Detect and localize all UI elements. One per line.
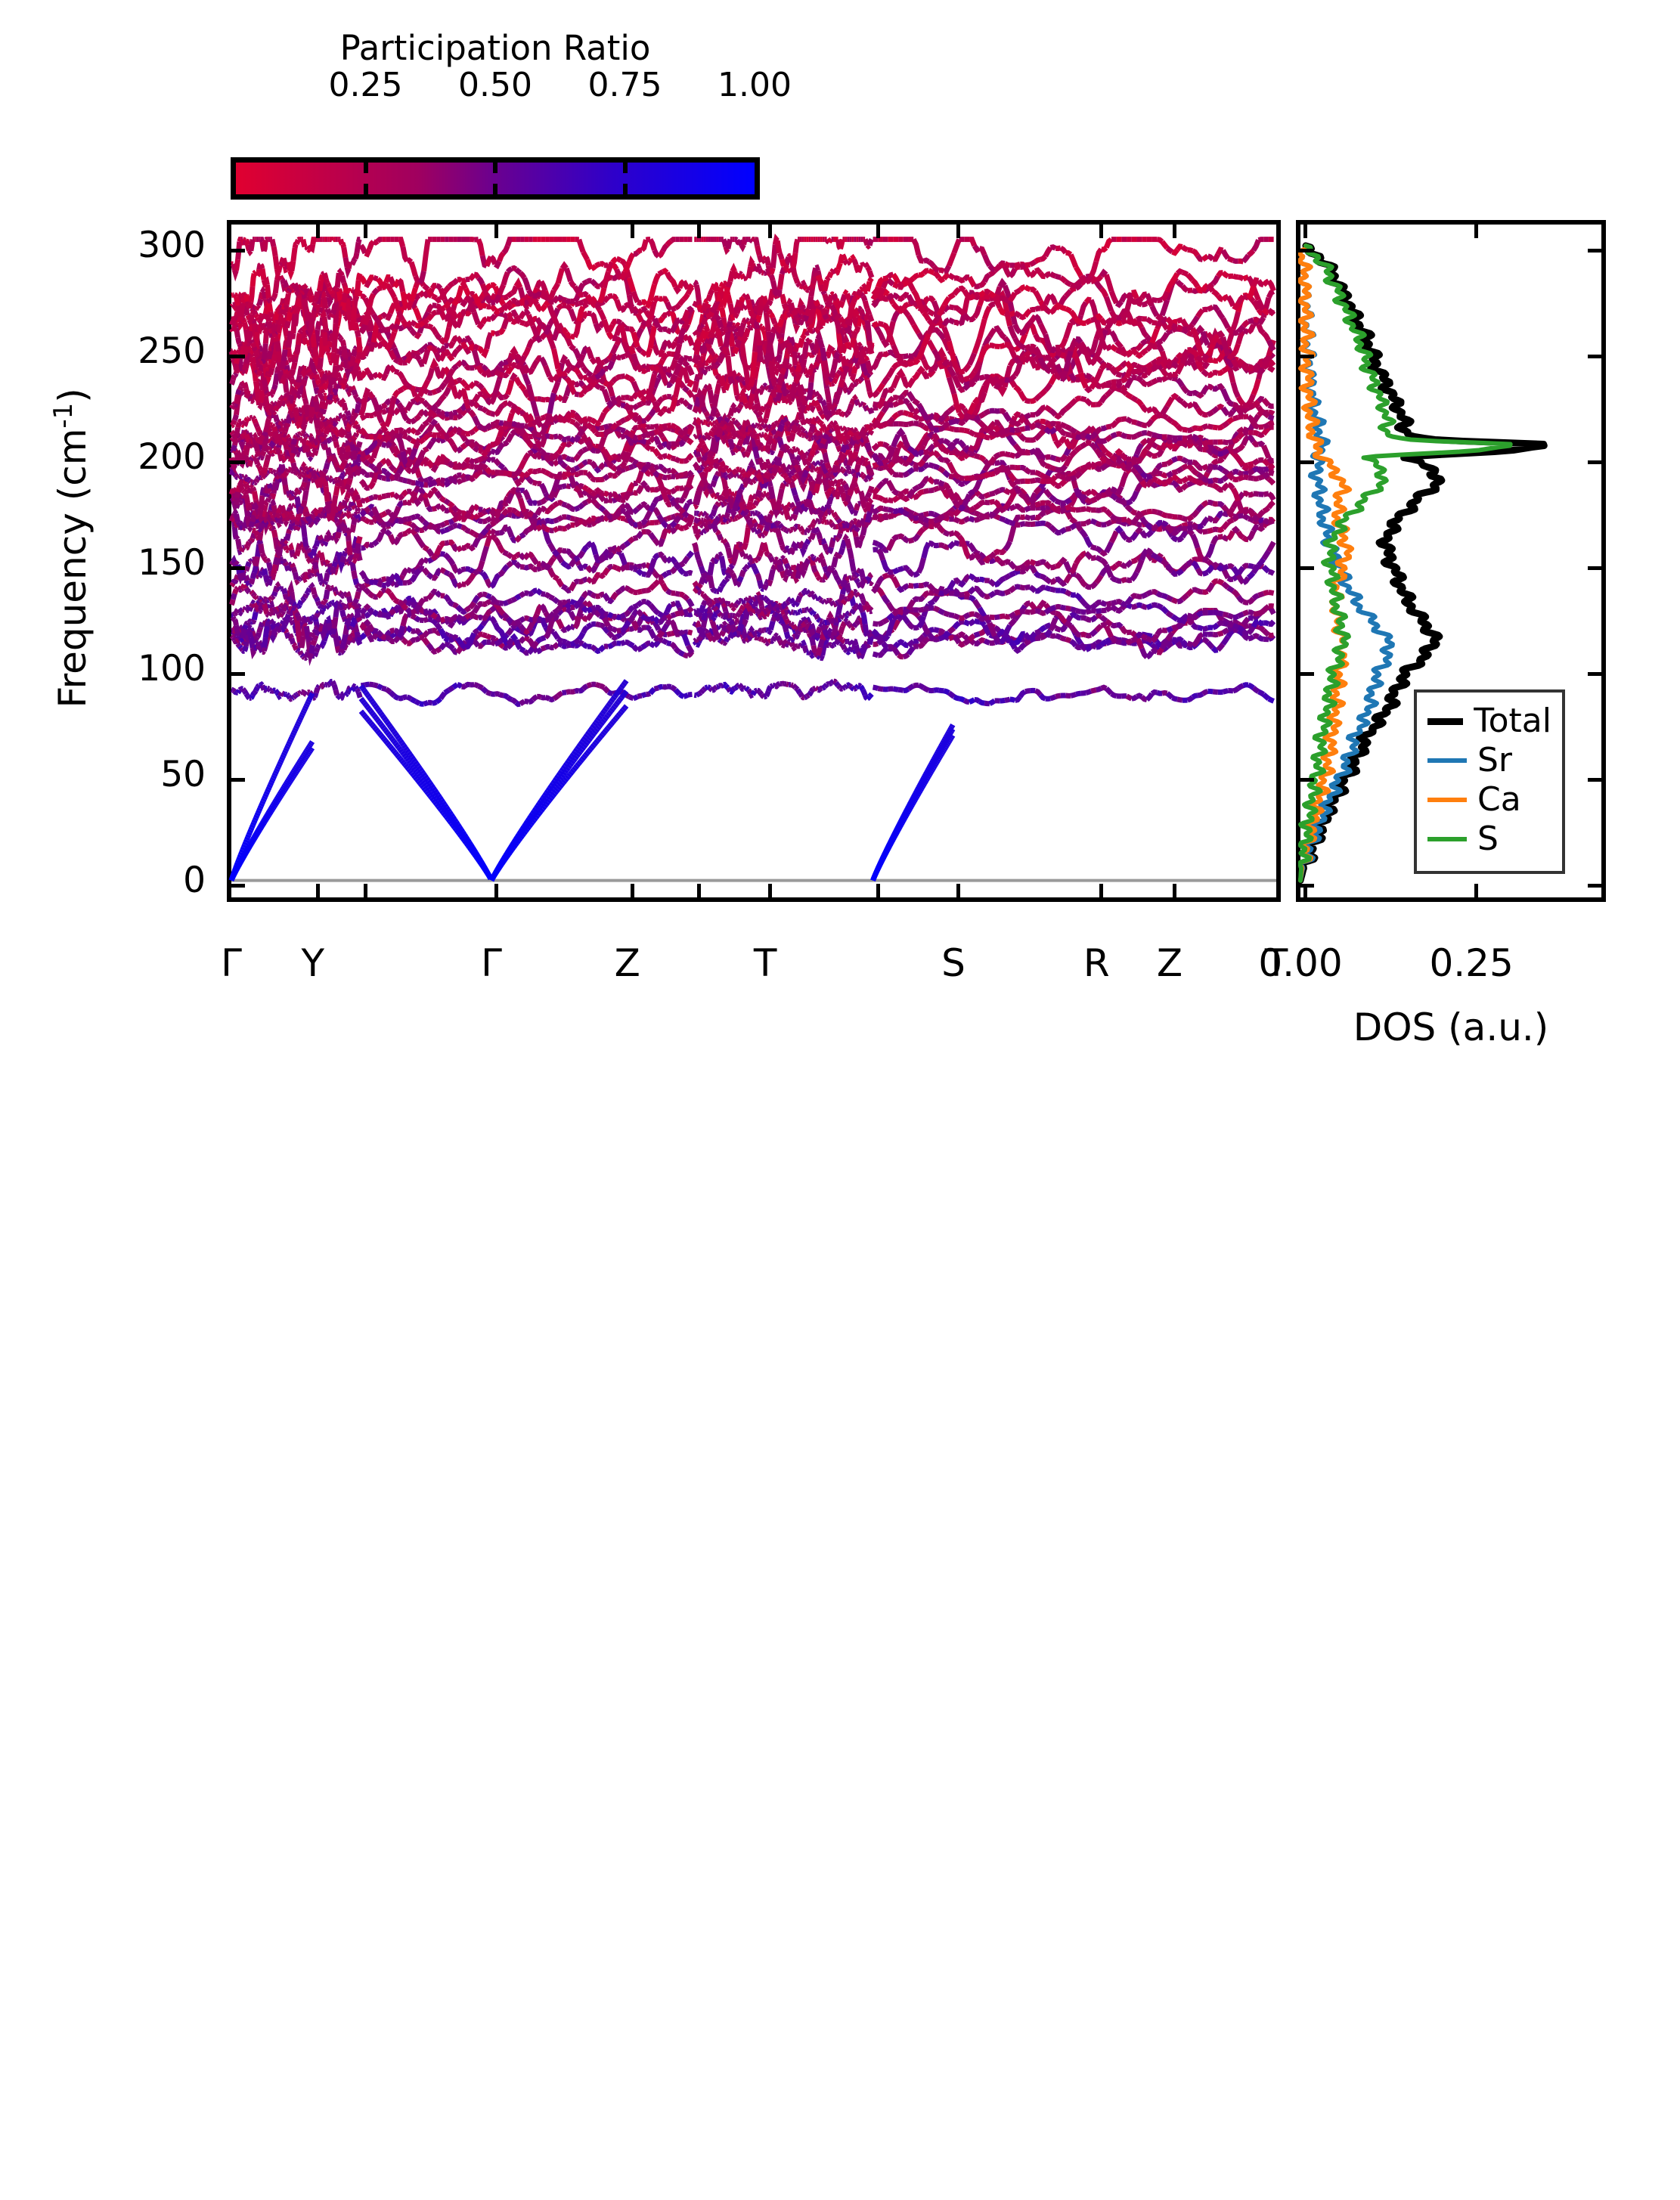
phonon-branch: [334, 480, 336, 481]
phonon-branch: [312, 618, 313, 618]
phonon-branch: [461, 547, 466, 548]
phonon-branch: [457, 606, 462, 610]
phonon-branch: [233, 593, 234, 600]
phonon-branch: [309, 417, 311, 420]
phonon-branch: [352, 623, 354, 627]
phonon-branch: [625, 587, 630, 590]
phonon-branch: [445, 522, 449, 524]
phonon-branch: [667, 476, 671, 477]
phonon-branch: [355, 395, 357, 398]
phonon-branch: [495, 333, 500, 334]
phonon-branch: [625, 406, 630, 407]
phonon-branch: [340, 240, 342, 244]
phonon-branch: [688, 501, 693, 504]
phonon-branch: [344, 417, 346, 420]
phonon-branch: [386, 436, 391, 439]
phonon-branch: [323, 602, 324, 605]
phonon-branch: [575, 349, 579, 358]
phonon-branch: [482, 573, 487, 579]
phonon-branch: [504, 614, 508, 618]
phonon-branch: [279, 401, 281, 405]
phonon-branch: [553, 551, 558, 556]
phonon-branch: [659, 581, 663, 584]
phonon-branch: [321, 645, 323, 647]
phonon-branch: [349, 416, 350, 420]
phonon-branch: [541, 500, 546, 503]
phonon-branch: [436, 570, 441, 576]
phonon-branch: [365, 684, 370, 685]
phonon-branch: [271, 612, 272, 612]
colorbar-tick-label-1: 0.50: [458, 67, 532, 104]
phonon-branch: [374, 541, 378, 544]
phonon-branch: [655, 499, 659, 504]
phonon-branch: [583, 627, 587, 633]
phonon-branch: [277, 626, 278, 627]
phonon-branch: [499, 630, 504, 637]
phonon-branch: [563, 646, 567, 646]
phonon-branch: [288, 312, 290, 321]
phonon-branch: [563, 373, 567, 375]
phonon-branch: [470, 431, 475, 433]
phonon-branch: [340, 476, 342, 479]
phonon-branch: [339, 607, 340, 609]
phonon-branch: [316, 648, 318, 652]
phonon-branch: [516, 356, 521, 361]
phonon-branch: [269, 439, 271, 443]
phonon-branch: [274, 293, 275, 298]
phonon-branch: [386, 495, 391, 496]
phonon-branch: [528, 700, 533, 702]
phonon-branch: [617, 634, 621, 637]
phonon-branch: [558, 397, 563, 400]
phonon-branch: [326, 429, 327, 434]
phonon-branch: [365, 589, 370, 593]
phonon-branch: [295, 312, 296, 326]
phonon-branch: [420, 600, 424, 606]
phonon-branch: [411, 610, 416, 612]
phonon-branch: [474, 350, 479, 366]
phonon-branch: [264, 599, 265, 600]
phonon-branch: [629, 434, 634, 437]
phonon-branch: [675, 488, 680, 489]
phonon-branch: [285, 562, 287, 565]
phonon-branch: [329, 623, 330, 630]
phonon-branch: [407, 615, 411, 616]
phonon-branch: [374, 582, 378, 583]
phonon-branch: [319, 358, 321, 369]
phonon-branch: [284, 605, 285, 608]
phonon-branch: [264, 380, 265, 388]
phonon-branch: [571, 469, 575, 471]
phonon-branch: [591, 566, 596, 572]
phonon-branch: [533, 620, 538, 621]
phonon-branch: [300, 433, 302, 434]
phonon-branch: [449, 417, 454, 418]
phonon-branch: [659, 476, 663, 477]
phonon-branch: [499, 423, 504, 423]
phonon-branch: [337, 532, 339, 538]
phonon-branch: [231, 583, 233, 586]
phonon-branch: [411, 605, 416, 606]
phonon-branch: [507, 629, 512, 634]
phonon-branch: [659, 398, 663, 403]
phonon-branch: [344, 552, 346, 556]
phonon-branch: [453, 350, 457, 356]
phonon-branch: [634, 461, 638, 463]
phonon-branch: [550, 569, 554, 577]
phonon-branch: [398, 362, 403, 363]
phonon-branch: [449, 432, 454, 435]
phonon-branch: [566, 467, 571, 471]
phonon-branch: [680, 594, 684, 596]
phonon-branch: [240, 612, 241, 613]
phonon-branch: [240, 590, 241, 590]
phonon-branch: [333, 566, 334, 573]
phonon-branch: [424, 390, 429, 392]
phonon-branch: [634, 592, 638, 593]
phonon-branch: [313, 587, 315, 594]
phonon-branch: [296, 451, 298, 454]
phonon-branch: [302, 600, 303, 601]
phonon-branch: [407, 518, 411, 519]
phonon-branch: [390, 610, 395, 613]
phonon-branch: [474, 606, 479, 612]
phonon-branch: [254, 364, 256, 370]
phonon-branch: [449, 687, 454, 690]
phonon-branch: [234, 373, 236, 376]
phonon-branch: [612, 475, 617, 476]
phonon-branch: [470, 612, 475, 615]
phonon-branch: [357, 544, 358, 553]
phonon-branch: [683, 611, 688, 612]
phonon-branch: [453, 466, 457, 467]
phonon-branch: [324, 297, 326, 308]
phonon-branch: [495, 642, 500, 644]
phonon-branch: [251, 287, 253, 302]
phonon-branch: [487, 425, 491, 429]
phonon-branch: [449, 527, 454, 529]
phonon-branch: [334, 458, 336, 463]
phonon-branch: [254, 566, 256, 573]
phonon-branch: [596, 596, 600, 596]
phonon-branch: [625, 542, 630, 545]
phonon-branch: [327, 284, 329, 287]
phonon-branch: [675, 526, 680, 528]
phonon-branch: [269, 412, 271, 413]
phonon-branch: [507, 514, 512, 516]
phonon-branch: [365, 613, 370, 616]
phonon-branch: [251, 538, 253, 541]
phonon-branch: [386, 522, 391, 525]
phonon-branch: [312, 437, 313, 441]
phonon-branch: [436, 435, 441, 435]
phonon-branch: [470, 444, 475, 448]
phonon-branch: [347, 620, 349, 624]
phonon-branch: [343, 244, 344, 247]
phonon-branch: [663, 456, 668, 457]
phonon-branch: [441, 629, 445, 638]
phonon-branch: [275, 690, 277, 693]
phonon-branch: [563, 457, 567, 457]
phonon-branch: [512, 405, 516, 408]
phonon-branch: [528, 442, 533, 446]
phonon-branch: [411, 401, 416, 402]
phonon-branch: [461, 445, 466, 448]
phonon-branch: [604, 646, 609, 647]
phonon-branch: [365, 415, 370, 416]
phonon-branch: [329, 588, 330, 589]
phonon-branch: [319, 413, 321, 417]
phonon-branch: [415, 702, 420, 704]
phonon-branch: [495, 410, 500, 414]
phonon-branch: [233, 445, 234, 451]
phonon-branch: [671, 489, 676, 492]
phonon-branch: [329, 287, 330, 291]
phonon-branch: [339, 292, 340, 301]
phonon-branch: [507, 554, 512, 557]
phonon-branch: [333, 681, 334, 684]
phonon-branch: [411, 467, 416, 472]
phonon-branch: [349, 541, 350, 556]
phonon-branch: [346, 498, 347, 500]
phonon-branch: [243, 547, 244, 548]
phonon-branch: [528, 566, 533, 568]
phonon-branch: [256, 597, 257, 599]
phonon-branch: [382, 445, 386, 446]
phonon-branch: [262, 360, 264, 362]
phonon-branch: [646, 446, 650, 449]
phonon-branch: [303, 693, 305, 693]
phonon-branch: [303, 524, 305, 537]
phonon-branch: [390, 466, 395, 470]
phonon-branch: [234, 295, 236, 297]
phonon-branch: [415, 528, 420, 530]
phonon-branch: [334, 429, 336, 431]
phonon-branch: [390, 631, 395, 632]
phonon-branch: [474, 506, 479, 510]
phonon-branch: [272, 596, 274, 597]
phonon-branch: [241, 442, 243, 444]
phonon-branch: [246, 494, 247, 503]
phonon-branch: [579, 633, 584, 640]
phonon-branch: [233, 420, 234, 424]
phonon-branch: [316, 375, 318, 380]
phonon-branch: [428, 326, 432, 327]
phonon-branch: [236, 428, 237, 437]
phonon-branch: [365, 508, 370, 511]
phonon-branch: [441, 457, 445, 460]
phonon-branch: [621, 435, 625, 437]
phonon-branch: [470, 466, 475, 467]
phonon-branch: [336, 431, 337, 433]
phonon-branch: [305, 434, 306, 436]
phonon-branch: [553, 610, 558, 613]
phonon-branch: [457, 409, 462, 412]
phonon-branch: [369, 458, 374, 460]
phonon-branch: [248, 696, 250, 699]
phonon-branch: [292, 515, 293, 519]
phonon-branch: [487, 469, 491, 473]
phonon-branch: [336, 637, 337, 646]
phonon-branch: [284, 589, 285, 594]
phonon-branch: [284, 562, 285, 563]
phonon-branch: [329, 353, 330, 360]
phonon-branch: [343, 610, 344, 617]
phonon-branch: [296, 306, 298, 313]
phonon-branch: [243, 689, 244, 691]
phonon-branch: [395, 446, 399, 454]
phonon-branch: [479, 394, 483, 395]
phonon-branch: [246, 389, 247, 394]
phonon-branch: [566, 626, 571, 630]
phonon-branch: [347, 427, 349, 431]
phonon-branch: [504, 395, 508, 398]
phonon-branch: [398, 373, 403, 379]
phonon-branch: [680, 569, 684, 573]
phonon-branch: [428, 491, 432, 497]
phonon-branch: [675, 593, 680, 594]
phonon-branch: [254, 482, 256, 482]
phonon-branch: [520, 460, 525, 469]
phonon-branch: [256, 531, 257, 536]
phonon-branch: [269, 351, 271, 359]
phonon-branch: [420, 637, 424, 639]
phonon-branch: [575, 417, 579, 419]
phonon-branch: [339, 479, 340, 480]
phonon-branch: [650, 630, 655, 638]
phonon-branch: [279, 627, 281, 629]
phonon-branch: [566, 604, 571, 607]
phonon-branch: [303, 371, 305, 373]
phonon-branch: [512, 562, 516, 563]
phonon-branch: [642, 352, 646, 355]
phonon-branch: [240, 522, 241, 525]
phonon-branch: [612, 457, 617, 458]
phonon-branch: [683, 460, 688, 461]
phonon-branch: [339, 469, 340, 471]
phonon-branch: [347, 690, 349, 694]
phonon-branch: [287, 514, 288, 515]
phonon-branch: [575, 383, 579, 385]
phonon-branch: [256, 507, 257, 509]
phonon-branch: [541, 426, 546, 426]
phonon-branch: [358, 500, 360, 507]
phonon-branch: [609, 626, 613, 629]
phonon-branch: [300, 544, 302, 545]
phonon-branch: [240, 437, 241, 438]
phonon-branch: [231, 321, 233, 324]
phonon-branch: [292, 602, 293, 603]
phonon-branch: [347, 593, 349, 596]
phonon-branch: [295, 520, 296, 522]
phonon-branch: [265, 426, 267, 432]
phonon-branch: [277, 341, 278, 351]
phonon-branch: [347, 446, 349, 452]
phonon-branch: [655, 345, 659, 355]
phonon-branch: [604, 450, 609, 457]
phonon-branch: [617, 428, 621, 429]
phonon-branch: [663, 426, 668, 426]
phonon-branch: [537, 526, 541, 529]
phonon-branch: [655, 450, 659, 456]
band-structure-plot[interactable]: [227, 220, 1281, 902]
phonon-branch: [327, 441, 329, 442]
phonon-branch: [566, 415, 571, 419]
phonon-branch: [303, 389, 305, 398]
phonon-branch: [587, 348, 592, 359]
phonon-branch: [354, 436, 355, 438]
phonon-branch: [671, 644, 676, 649]
phonon-branch: [457, 684, 462, 686]
phonon-branch: [382, 340, 386, 346]
phonon-branch: [629, 459, 634, 461]
phonon-branch: [479, 348, 483, 352]
phonon-branch: [424, 480, 429, 482]
phonon-branch: [309, 372, 311, 374]
phonon-branch: [262, 268, 264, 280]
phonon-branch: [334, 366, 336, 378]
phonon-branch: [453, 565, 457, 572]
phonon-branch: [591, 314, 596, 324]
phonon-branch: [520, 638, 525, 643]
phonon-branch: [479, 604, 483, 606]
phonon-branch: [234, 270, 236, 273]
phonon-branch: [441, 383, 445, 389]
phonon-branch: [386, 512, 391, 513]
phonon-branch: [386, 531, 391, 535]
phonon-branch: [541, 697, 546, 698]
phonon-branch: [642, 565, 646, 566]
phonon-branch: [333, 240, 334, 240]
phonon-branch: [445, 459, 449, 462]
phonon-branch: [566, 438, 571, 439]
phonon-branch: [285, 513, 287, 514]
phonon-branch: [284, 259, 285, 266]
phonon-branch: [428, 525, 432, 528]
phonon-branch: [507, 562, 512, 565]
phonon-branch: [680, 612, 684, 614]
phonon-branch: [474, 346, 479, 349]
phonon-branch: [533, 482, 538, 484]
phonon-branch: [337, 513, 339, 517]
phonon-branch: [415, 416, 420, 420]
phonon-branch: [591, 420, 596, 423]
phonon-branch: [288, 458, 290, 459]
phonon-branch: [344, 606, 346, 607]
phonon-branch: [415, 606, 420, 611]
phonon-branch: [545, 472, 550, 474]
phonon-branch: [675, 603, 680, 608]
phonon-branch: [233, 614, 234, 615]
phonon-branch: [403, 379, 408, 385]
phonon-branch: [541, 620, 546, 621]
phonon-branch: [350, 627, 352, 629]
phonon-branch: [533, 471, 538, 472]
phonon-branch: [453, 412, 457, 413]
phonon-branch: [457, 380, 462, 381]
phonon-branch: [441, 619, 445, 621]
phonon-branch: [300, 578, 302, 579]
phonon-branch: [390, 431, 395, 436]
phonon-branch: [253, 593, 254, 596]
phonon-branch: [395, 696, 399, 699]
phonon-branch: [571, 367, 575, 369]
phonon-branch: [428, 644, 432, 649]
phonon-branch: [495, 422, 500, 423]
phonon-branch: [646, 442, 650, 442]
phonon-branch: [671, 426, 676, 428]
phonon-branch: [240, 317, 241, 321]
